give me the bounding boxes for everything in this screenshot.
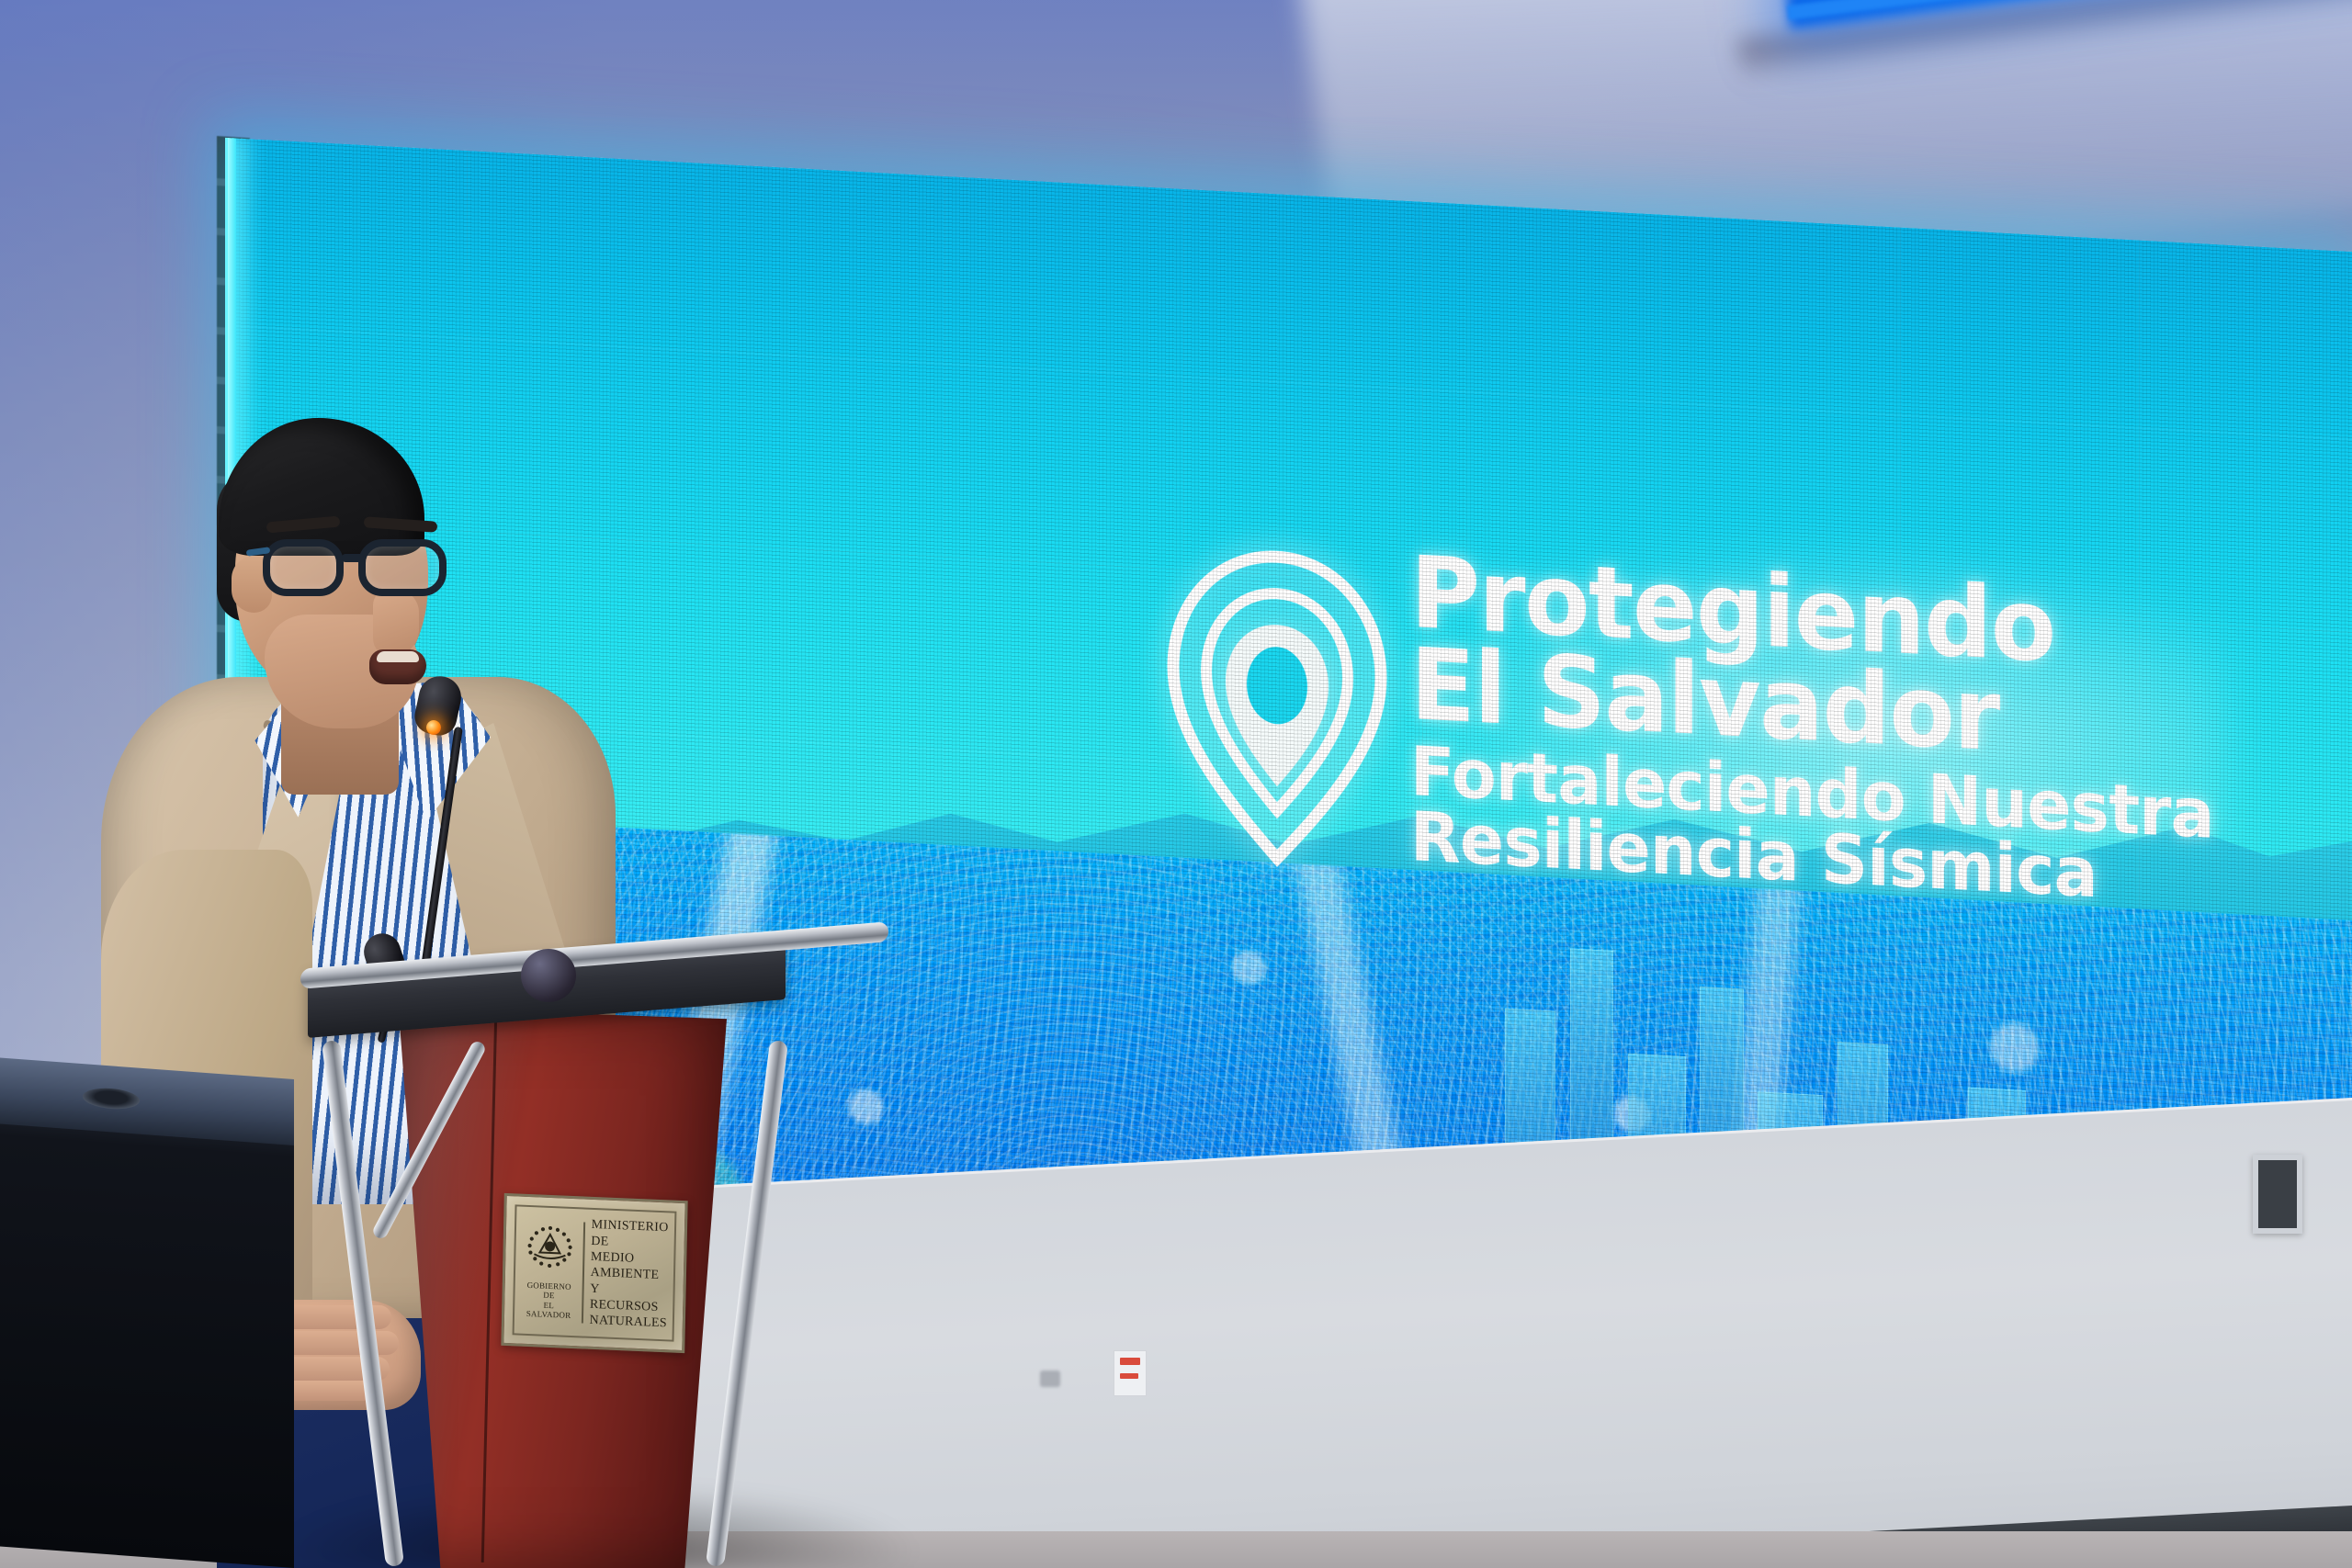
microphone-indicator-light	[426, 720, 441, 735]
plaque-title-line-4: NATURALES	[589, 1313, 667, 1332]
plaque-title-line-1: MINISTERIO DE	[591, 1217, 669, 1252]
podium-leg-left	[322, 1040, 404, 1567]
plaque-gov-line-2: EL SALVADOR	[522, 1299, 575, 1320]
podium-rail-knob	[521, 949, 576, 1002]
eyeglasses-icon	[263, 534, 461, 602]
plaque-title-line-3: Y RECURSOS	[590, 1280, 668, 1315]
press-conference-scene: Protegiendo El Salvador Fortaleciendo Nu…	[0, 0, 2352, 1568]
wall-label-sticker	[1114, 1350, 1147, 1396]
wall-outlet-panel[interactable]	[2253, 1155, 2302, 1234]
national-seal-icon	[523, 1223, 577, 1278]
slide-headline-block: Protegiendo El Salvador Fortaleciendo Nu…	[1410, 547, 2247, 914]
speaking-podium: GOBIERNO DE EL SALVADOR MINISTERIO DE ME…	[326, 951, 841, 1568]
wall-scuff-mark	[1040, 1371, 1060, 1387]
ministry-plaque: GOBIERNO DE EL SALVADOR MINISTERIO DE ME…	[501, 1193, 687, 1353]
presenter-teeth	[377, 651, 419, 662]
plaque-title-line-2: MEDIO AMBIENTE	[590, 1249, 668, 1284]
eyeglass-lens-left	[263, 539, 344, 596]
eyeglass-bridge	[342, 554, 364, 562]
location-pin-icon	[1153, 539, 1401, 883]
plaque-gov-line-1: GOBIERNO DE	[522, 1280, 575, 1302]
foreground-table	[0, 1068, 294, 1568]
eyeglass-lens-right	[358, 539, 447, 596]
plaque-divider	[582, 1222, 585, 1323]
